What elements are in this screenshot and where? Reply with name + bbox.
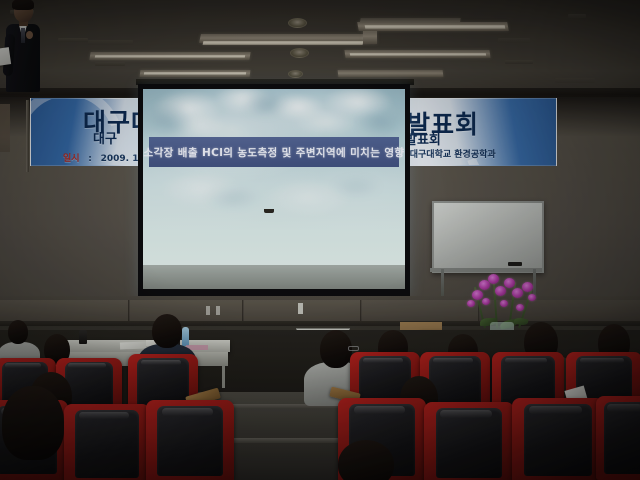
lecture-hall-photo: 대구대 대구 일시 : 2009. 11. 20(금) 발표회 발표회 : 대구… [0,0,640,480]
theater-seat [596,396,640,480]
theater-seat [424,402,514,480]
theater-seat [64,404,150,480]
table-leg [222,366,225,388]
seat-highlight [363,358,404,363]
wall-panel [0,300,129,322]
seat-backrest [524,404,592,476]
whiteboard [432,201,544,273]
banner-right: 발표회 발표회 : 대구대학교 환경공학과 [400,98,557,166]
seat-highlight [68,363,106,368]
ceiling-light-fixture [144,72,246,75]
ceiling-vent [88,40,133,45]
presenter-necktie [21,28,25,43]
audience-head [2,386,64,460]
screen-bottom-shadow [143,265,405,289]
seat-backrest [65,362,114,408]
wall-outlet [216,306,220,315]
seat-highlight [5,363,41,368]
beverage-can [79,330,87,344]
banner-date-value: : [85,154,95,164]
banner-right-dept: 대구대학교 환경공학과 [410,150,496,160]
seat-highlight [354,406,405,414]
seat-highlight [162,408,213,415]
ceiling-downlight-icon [290,48,309,58]
banner-right-line3: : 대구대학교 환경공학과 [403,147,496,160]
banner-date-label: 일시 [63,154,80,164]
banner-left-line2: 대구 [93,128,117,147]
water-bottle [182,327,189,346]
seat-highlight [529,406,582,414]
seat-backrest [604,402,640,474]
seat-backrest [75,410,139,479]
seat-highlight [580,358,624,363]
ceiling-downlight-icon [288,70,303,78]
ceiling-vent [568,14,586,18]
ceiling-vent [505,60,533,64]
wall-pole [26,100,29,172]
projection-screen: 소각장 배출 HCl의 농도측정 및 주변지역에 미치는 영향 [143,89,405,289]
ceiling-downlight-icon [288,18,307,28]
seat-highlight [79,412,129,419]
ceiling-light-fixture [363,30,377,44]
banner-right-line2: 발표회 [405,129,441,148]
screen-pull-handle [264,209,274,213]
seat-highlight [505,358,547,363]
ceiling-vent [498,38,530,43]
presenter-hand [26,31,33,39]
ceiling-light-fixture [95,55,245,58]
ceiling-vent [555,78,595,83]
ceiling-light-fixture [365,25,506,29]
wall-strip [0,104,10,152]
table-papers [120,342,146,350]
projection-screen-frame: 소각장 배출 HCl의 농도측정 및 주변지역에 미치는 영향 [138,84,410,297]
ceiling-vent [95,62,125,66]
seat-backrest [436,408,503,479]
whiteboard-marker [508,262,522,266]
slide-title-text: 소각장 배출 HCl의 농도측정 및 주변지역에 미치는 영향 [144,145,405,160]
ceiling-light-fixture [350,53,486,56]
seat-highlight [440,410,492,417]
seat-backrest [157,406,222,477]
eyeglasses-icon [348,346,359,351]
audience-head [152,314,182,348]
theater-seat [512,398,604,480]
wall-outlet [298,303,303,314]
audience-head [8,320,28,344]
audience-head [338,440,394,480]
ceiling-vent [58,38,88,42]
seat-highlight [607,404,640,412]
seat-highlight [433,358,474,363]
ceiling-light-fixture [338,70,444,77]
wall-panel [130,300,243,322]
ceiling-light-fixture [203,41,364,45]
wall-outlet [206,306,210,315]
presenter-hair [12,0,34,10]
seat-highlight [141,360,182,365]
theater-seat [146,400,234,480]
slide-title-band: 소각장 배출 HCl의 농도측정 및 주변지역에 미치는 영향 [149,137,399,167]
